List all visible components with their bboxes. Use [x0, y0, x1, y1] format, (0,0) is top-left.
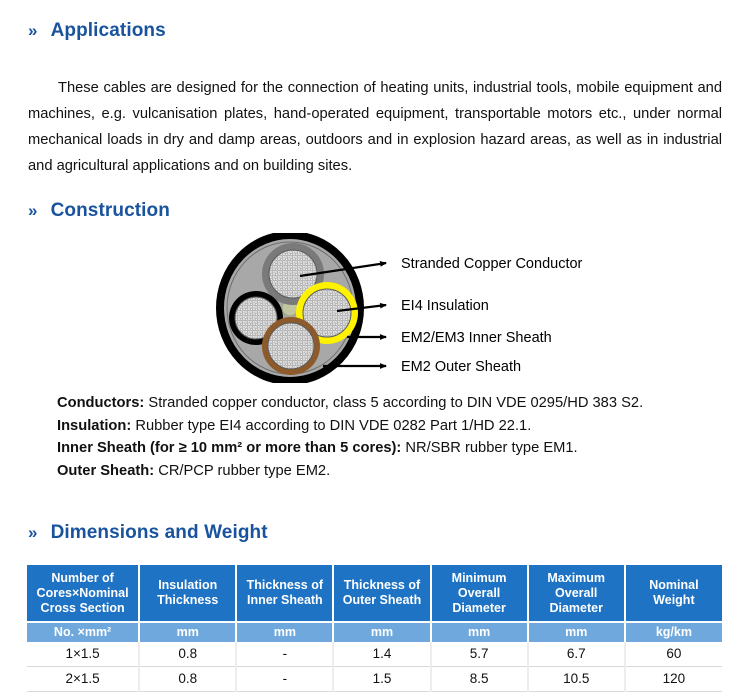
column-header-nominal-weight: Nominal Weight	[625, 565, 722, 622]
spec-line-outer-sheath: Outer Sheath: CR/PCP rubber type EM2.	[57, 460, 727, 483]
spec-key-outer-sheath: Outer Sheath:	[57, 463, 154, 479]
cell-nominal-weight: 120	[625, 667, 722, 692]
section-title-construction: Construction	[51, 200, 170, 222]
section-title-dimensions-and-weight: Dimensions and Weight	[51, 522, 268, 544]
cell-cores-cross-section: 2×1.5	[27, 667, 139, 692]
cable-core-brown	[262, 317, 320, 375]
spec-value-insulation: Rubber type EI4 according to DIN VDE 028…	[131, 418, 531, 434]
callout-label-ei4-insulation: EI4 Insulation	[401, 298, 489, 314]
column-header-maximum-overall-diameter: Maximum Overall Diameter	[528, 565, 625, 622]
spec-key-insulation: Insulation:	[57, 418, 131, 434]
unit-cell-insulation-thickness: mm	[139, 622, 236, 642]
spec-value-inner-sheath: NR/SBR rubber type EM1.	[401, 440, 577, 456]
cell-outer-sheath-thickness: 1.5	[333, 667, 430, 692]
cell-minimum-overall-diameter: 8.5	[431, 667, 528, 692]
cell-inner-sheath-thickness: -	[236, 642, 333, 667]
table-units-row: No. ×mm² mm mm mm mm mm kg/km	[27, 622, 722, 642]
cell-inner-sheath-thickness: -	[236, 667, 333, 692]
column-header-outer-sheath-thickness: Thickness of Outer Sheath	[333, 565, 430, 622]
section-heading-construction: » Construction	[28, 200, 170, 222]
chevron-double-right-icon: »	[28, 21, 38, 41]
unit-cell-inner-sheath-thickness: mm	[236, 622, 333, 642]
cell-insulation-thickness: 0.8	[139, 667, 236, 692]
unit-cell-outer-sheath-thickness: mm	[333, 622, 430, 642]
table-header-row: Number of Cores×Nominal Cross Section In…	[27, 565, 722, 622]
table-row: 2×1.5 0.8 - 1.5 8.5 10.5 120	[27, 667, 722, 692]
unit-cell-maximum-overall-diameter: mm	[528, 622, 625, 642]
column-header-insulation-thickness: Insulation Thickness	[139, 565, 236, 622]
callout-label-outer-sheath: EM2 Outer Sheath	[401, 359, 521, 375]
column-header-cores-cross-section: Number of Cores×Nominal Cross Section	[27, 565, 139, 622]
section-title-applications: Applications	[51, 20, 166, 42]
cell-maximum-overall-diameter: 10.5	[528, 667, 625, 692]
column-header-inner-sheath-thickness: Thickness of Inner Sheath	[236, 565, 333, 622]
section-heading-applications: » Applications	[28, 20, 166, 42]
construction-spec-list: Conductors: Stranded copper conductor, c…	[57, 392, 727, 482]
cell-minimum-overall-diameter: 5.7	[431, 642, 528, 667]
cell-cores-cross-section: 1×1.5	[27, 642, 139, 667]
unit-cell-nominal-weight: kg/km	[625, 622, 722, 642]
cell-insulation-thickness: 0.8	[139, 642, 236, 667]
section-heading-dimensions-and-weight: » Dimensions and Weight	[28, 522, 268, 544]
table-row: 1×1.5 0.8 - 1.4 5.7 6.7 60	[27, 642, 722, 667]
unit-cell-cores-cross-section: No. ×mm²	[27, 622, 139, 642]
spec-key-inner-sheath: Inner Sheath (for ≥ 10 mm² or more than …	[57, 440, 401, 456]
applications-paragraph: These cables are designed for the connec…	[28, 75, 722, 179]
cell-nominal-weight: 60	[625, 642, 722, 667]
callout-label-inner-sheath: EM2/EM3 Inner Sheath	[401, 330, 552, 346]
cell-maximum-overall-diameter: 6.7	[528, 642, 625, 667]
unit-cell-minimum-overall-diameter: mm	[431, 622, 528, 642]
dimensions-and-weight-table: Number of Cores×Nominal Cross Section In…	[27, 565, 722, 692]
spec-key-conductors: Conductors:	[57, 395, 144, 411]
cell-outer-sheath-thickness: 1.4	[333, 642, 430, 667]
callout-label-stranded-copper-conductor: Stranded Copper Conductor	[401, 256, 583, 272]
spec-line-conductors: Conductors: Stranded copper conductor, c…	[57, 392, 727, 415]
spec-value-conductors: Stranded copper conductor, class 5 accor…	[144, 395, 643, 411]
cable-cross-section-diagram: Stranded Copper Conductor EI4 Insulation…	[215, 233, 635, 383]
chevron-double-right-icon: »	[28, 201, 38, 221]
chevron-double-right-icon: »	[28, 523, 38, 543]
spec-line-insulation: Insulation: Rubber type EI4 according to…	[57, 415, 727, 438]
spec-value-outer-sheath: CR/PCP rubber type EM2.	[154, 463, 330, 479]
column-header-minimum-overall-diameter: Minimum Overall Diameter	[431, 565, 528, 622]
spec-line-inner-sheath: Inner Sheath (for ≥ 10 mm² or more than …	[57, 437, 727, 460]
